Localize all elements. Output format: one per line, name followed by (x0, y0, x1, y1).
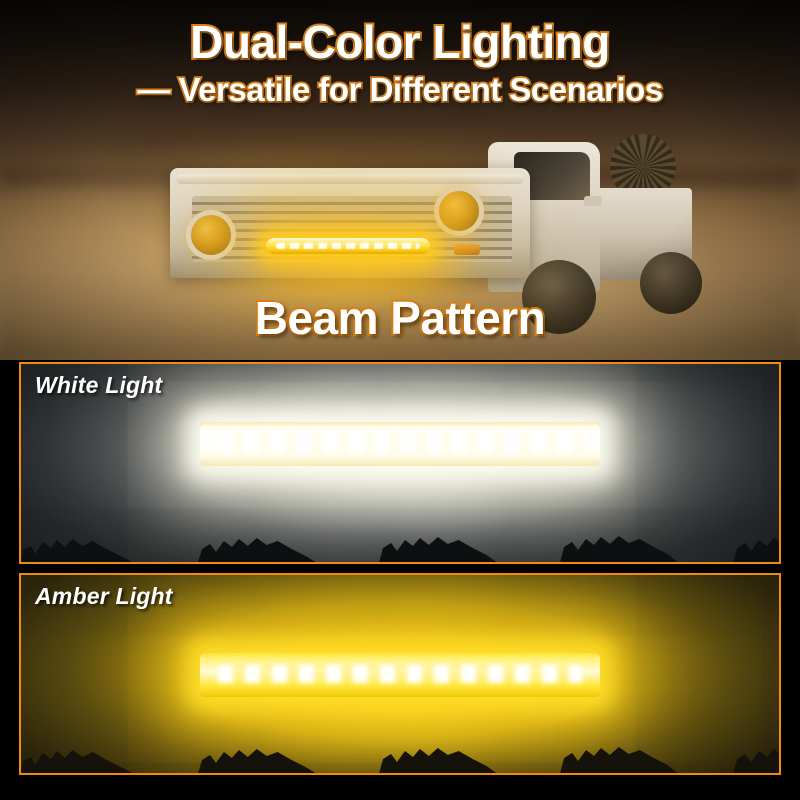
amber-bar-core (200, 653, 600, 697)
page-title: Dual-Color Lighting (0, 16, 800, 68)
white-bar-leds (218, 434, 582, 452)
white-bar-core (200, 422, 600, 466)
beam-panel-amber-light: Amber Light (19, 573, 781, 775)
amber-panel-heatsink-silhouettes (21, 727, 779, 773)
product-marketing-image: Dual-Color Lighting — Versatile for Diff… (0, 0, 800, 800)
white-light-bar (200, 422, 600, 466)
page-subtitle: — Versatile for Different Scenarios (0, 68, 800, 112)
section-title-beam-pattern: Beam Pattern (0, 290, 800, 346)
panel-label-white-light: White Light (35, 372, 162, 399)
title-block: Dual-Color Lighting — Versatile for Diff… (0, 16, 800, 112)
panel-label-amber-light: Amber Light (35, 583, 173, 610)
beam-panel-white-light: White Light (19, 362, 781, 564)
amber-bar-leds (218, 665, 582, 683)
amber-light-bar (200, 653, 600, 697)
white-panel-heatsink-silhouettes (21, 516, 779, 562)
